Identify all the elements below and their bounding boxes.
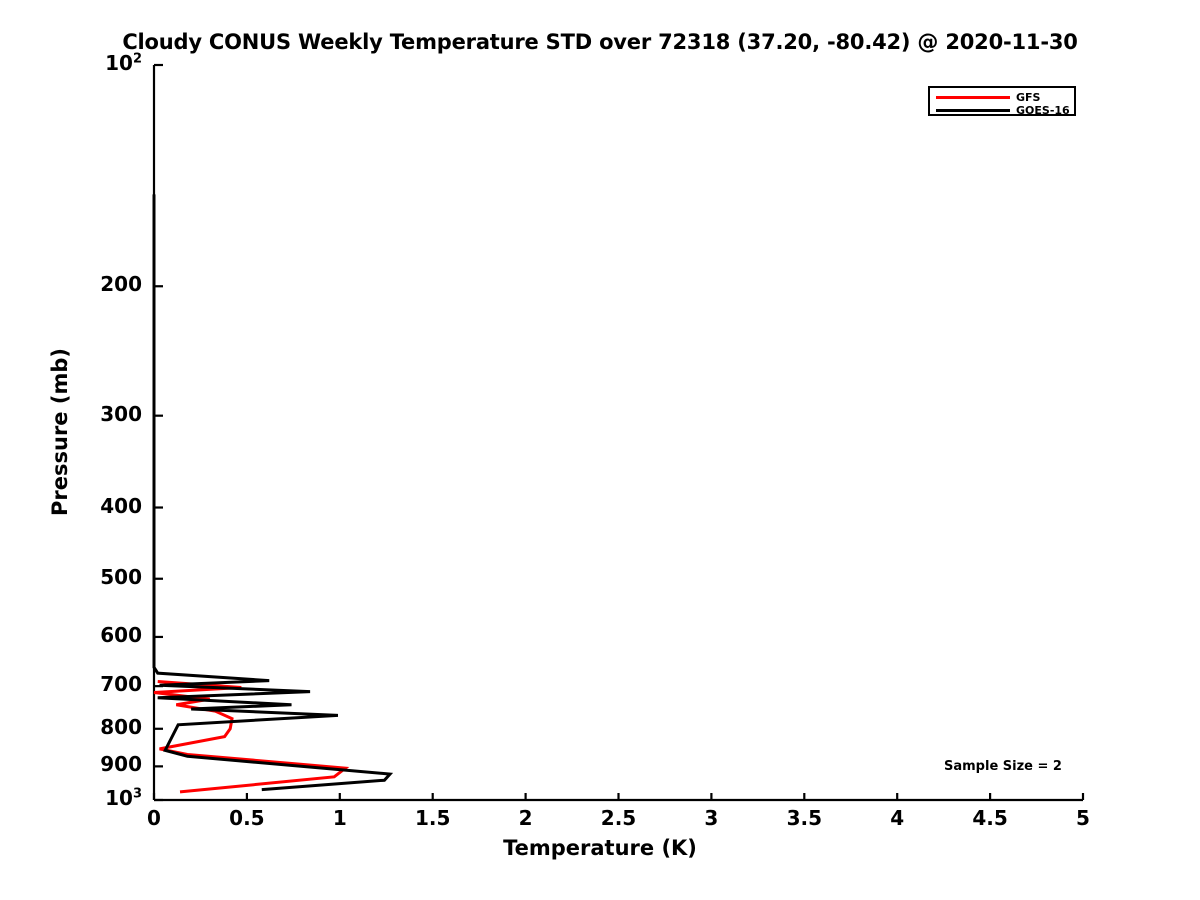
x-tick-label: 5 [1043, 806, 1123, 830]
chart-figure: Cloudy CONUS Weekly Temperature STD over… [0, 0, 1200, 900]
y-tick-label: 900 [32, 752, 142, 776]
x-tick-label: 0.5 [207, 806, 287, 830]
x-tick-label: 2 [486, 806, 566, 830]
x-tick-label: 3.5 [764, 806, 844, 830]
x-tick-label: 1.5 [393, 806, 473, 830]
legend-item-goes16: GOES-16 [936, 104, 1070, 117]
y-axis-label: Pressure (mb) [48, 332, 72, 532]
y-tick-label: 800 [32, 715, 142, 739]
y-tick-label: 200 [32, 272, 142, 296]
legend-color-swatch-goes16 [936, 109, 1010, 112]
y-tick-label: 102 [32, 51, 142, 75]
x-tick-label: 4.5 [950, 806, 1030, 830]
x-tick-label: 2.5 [579, 806, 659, 830]
y-tick-label: 500 [32, 565, 142, 589]
series-line-goes-16 [154, 194, 390, 789]
legend-label-gfs: GFS [1016, 92, 1040, 103]
x-tick-label: 1 [300, 806, 380, 830]
legend-color-swatch-gfs [936, 96, 1010, 99]
x-tick-label: 4 [857, 806, 937, 830]
data-lines [154, 194, 390, 791]
y-tick-label: 700 [32, 672, 142, 696]
x-tick-label: 3 [671, 806, 751, 830]
legend: GFS GOES-16 [928, 86, 1076, 116]
sample-size-annotation: Sample Size = 2 [944, 759, 1062, 774]
legend-item-gfs: GFS [936, 91, 1040, 104]
legend-label-goes16: GOES-16 [1016, 105, 1070, 116]
y-tick-label: 600 [32, 623, 142, 647]
y-tick-label: 103 [32, 786, 142, 810]
x-axis-label: Temperature (K) [0, 836, 1200, 860]
